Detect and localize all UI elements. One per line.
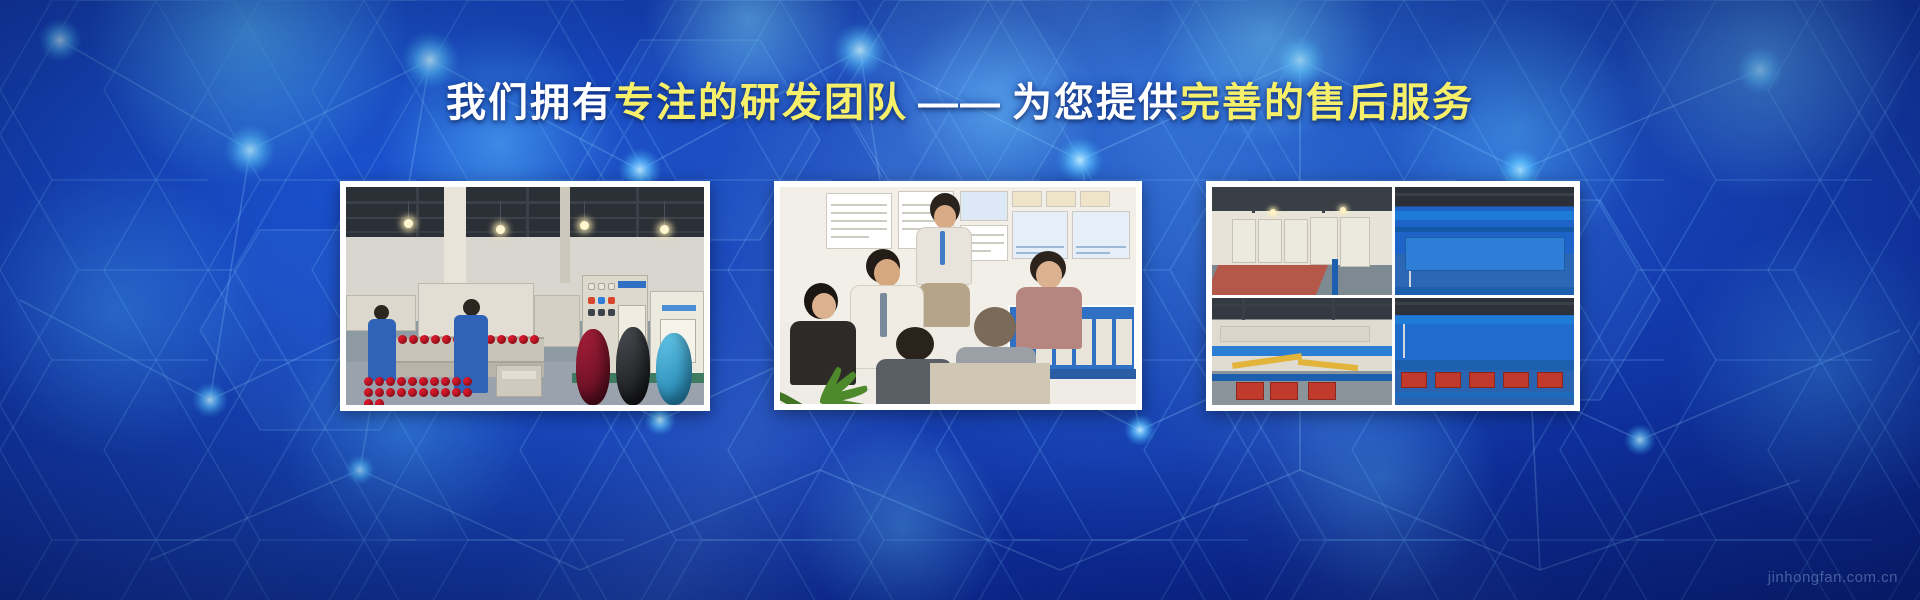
photo-team-meeting [780,187,1136,404]
promotional-banner: 我们拥有专注的研发团队——为您提供完善的售后服务 [0,0,1920,600]
photo-card-production-line[interactable] [340,181,710,411]
headline-separator: —— [908,81,1012,125]
photo-gallery-row [0,181,1920,416]
banner-headline: 我们拥有专注的研发团队——为您提供完善的售后服务 [0,80,1920,126]
headline-segment-3: 为您提供 [1012,81,1180,125]
photo-equipment-collage [1212,187,1574,405]
photo-production-line [346,187,704,405]
headline-segment-1: 我们拥有 [446,81,614,125]
headline-segment-4: 完善的售后服务 [1180,81,1474,125]
photo-card-equipment-collage[interactable] [1206,181,1580,411]
headline-segment-2: 专注的研发团队 [614,81,908,125]
photo-card-team-meeting[interactable] [774,181,1142,410]
site-watermark: jinhongfan.com.cn [1768,569,1898,586]
